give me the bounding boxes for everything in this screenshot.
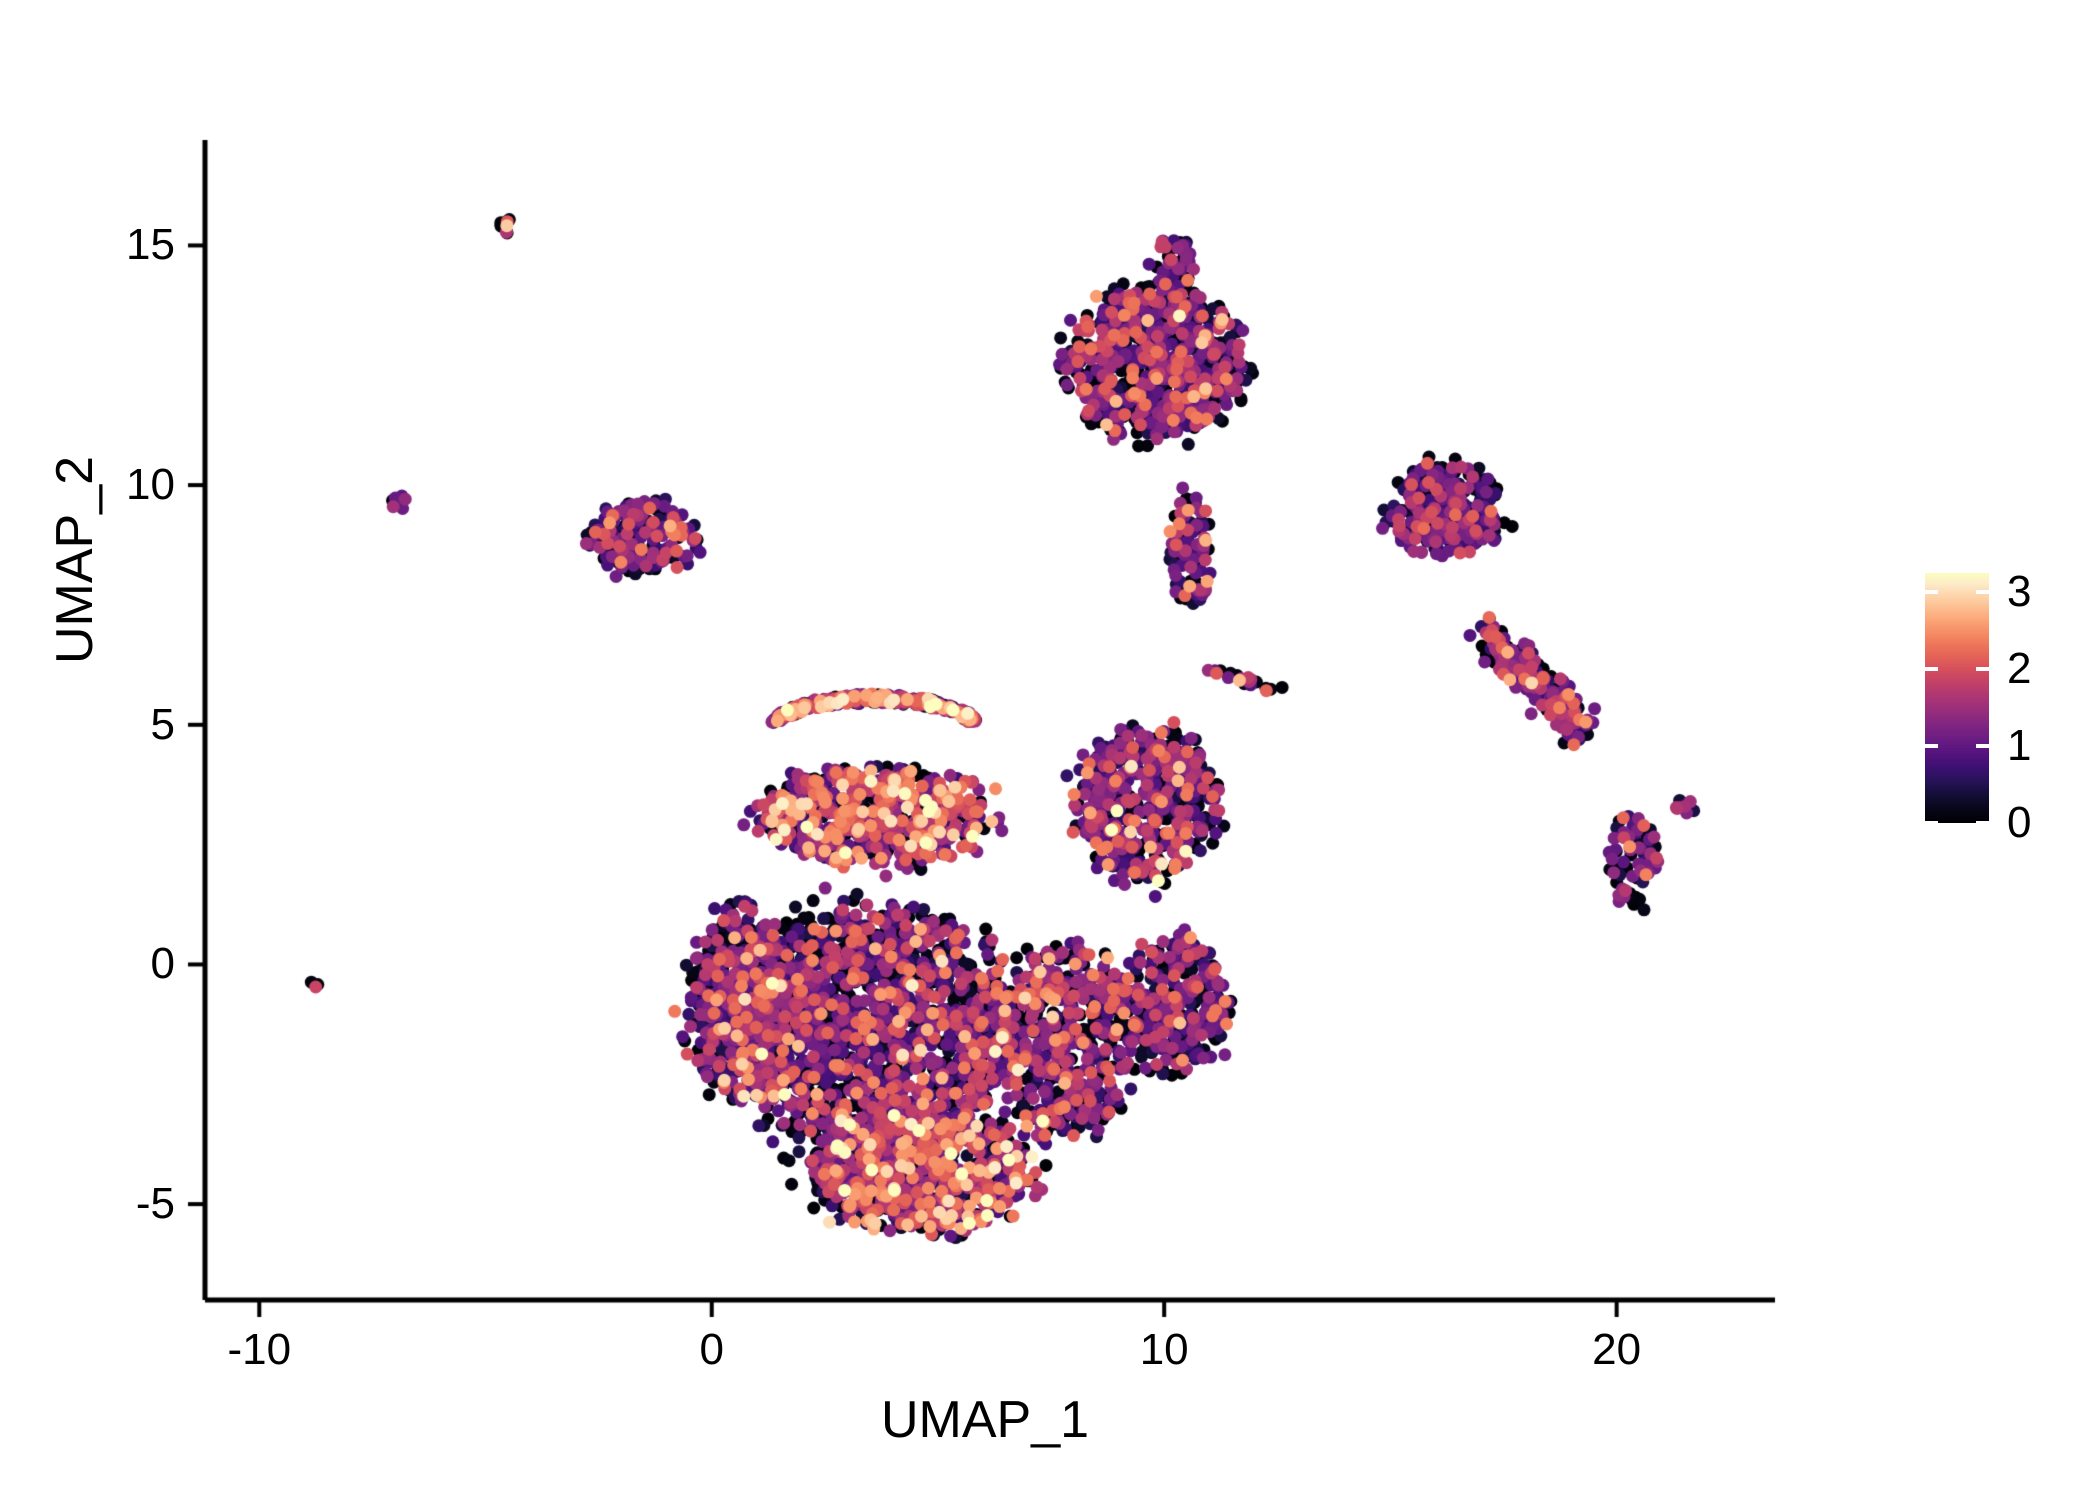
x-tick-label: -10 [179, 1325, 339, 1375]
y-axis-title: UMAP_2 [45, 260, 105, 860]
colorbar-tick-label: 2 [2007, 644, 2031, 694]
x-tick-label: 20 [1537, 1325, 1697, 1375]
y-tick-label: 0 [35, 939, 175, 989]
x-axis-title: UMAP_1 [205, 1390, 1765, 1450]
x-axis-tick-labels: -1001020 [0, 1325, 2100, 1395]
colorbar-gradient [1925, 573, 1989, 823]
color-legend[interactable]: 3210 [1925, 573, 2075, 823]
colorbar-tick-label: 0 [2007, 798, 2031, 848]
scatter-plot-canvas [0, 0, 2100, 1500]
x-tick-label: 10 [1084, 1325, 1244, 1375]
y-tick-label: -5 [35, 1179, 175, 1229]
x-tick-label: 0 [632, 1325, 792, 1375]
colorbar-tick-label: 1 [2007, 721, 2031, 771]
umap-feature-plot: ATXN10 -5051015 -1001020 UMAP_2 UMAP_1 3… [0, 0, 2100, 1500]
colorbar-tick-label: 3 [2007, 567, 2031, 617]
